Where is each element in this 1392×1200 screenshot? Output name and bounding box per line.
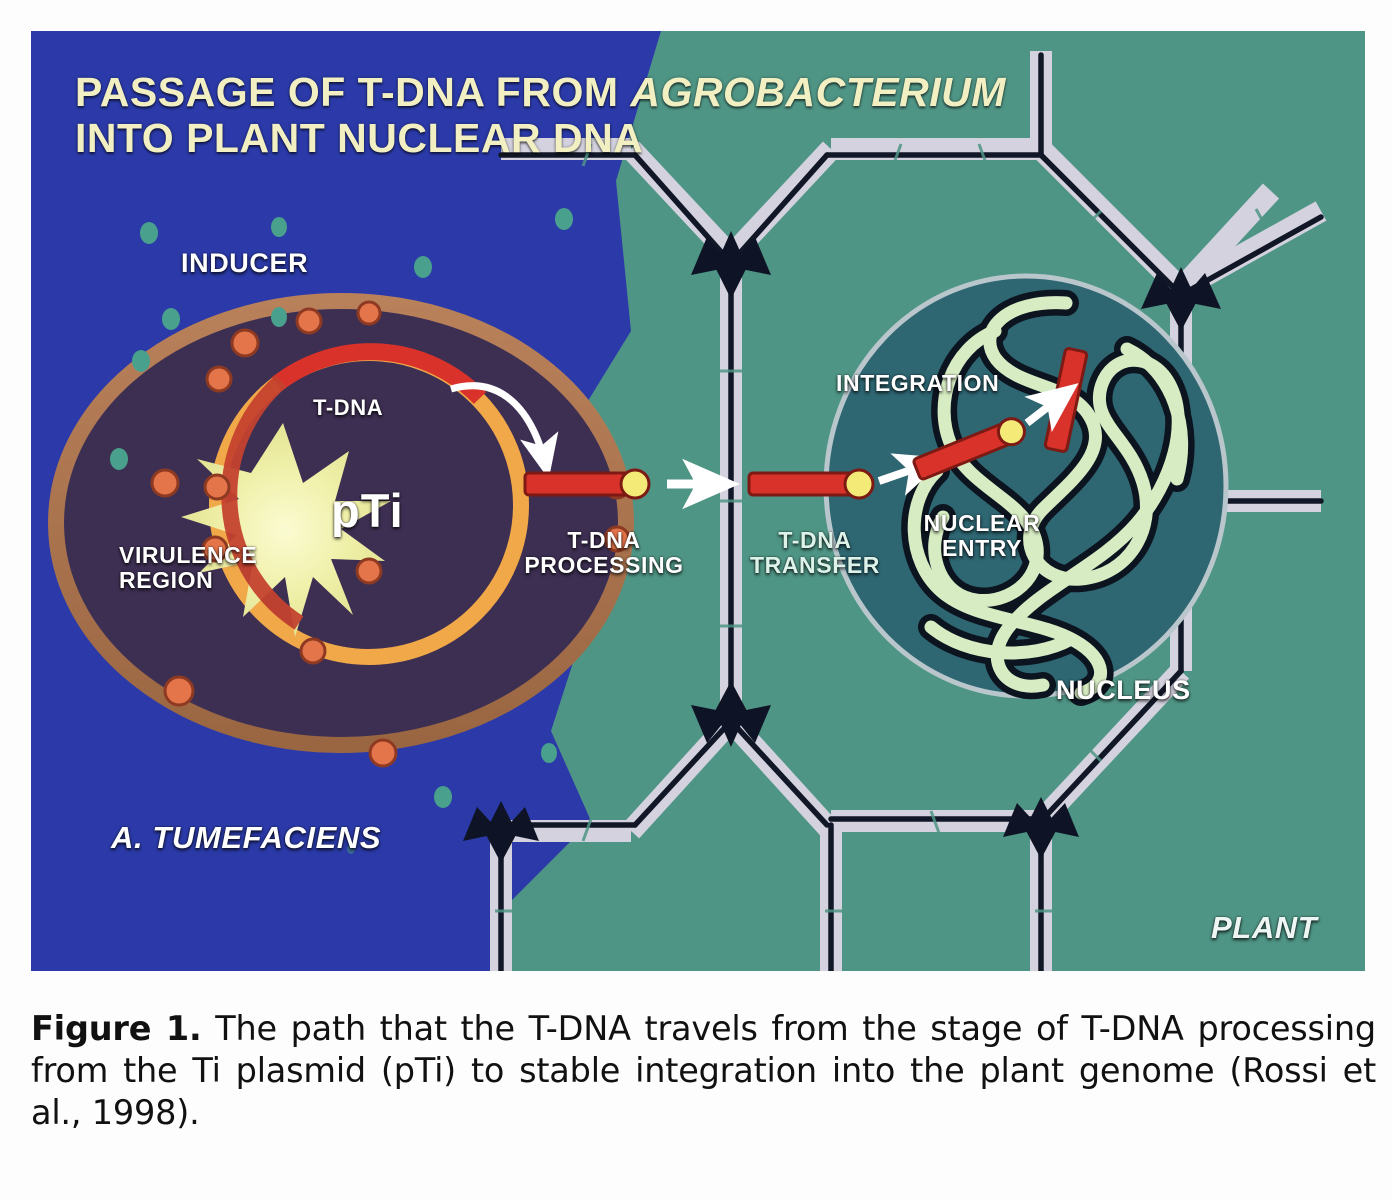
receptor-dot xyxy=(203,537,227,561)
receptor-dot xyxy=(357,559,381,583)
inducer-dot xyxy=(541,743,557,763)
figure-panel: PASSAGE OF T-DNA FROM AGROBACTERIUM INTO… xyxy=(31,31,1365,971)
inducer-dot xyxy=(555,208,573,230)
receptor-dot xyxy=(301,639,325,663)
inducer-dot xyxy=(162,308,180,330)
inducer-dot xyxy=(132,350,150,372)
receptor-dot xyxy=(232,330,258,356)
receptor-dot xyxy=(205,475,229,499)
inducer-dot xyxy=(347,844,355,854)
figure-caption: Figure 1. The path that the T-DNA travel… xyxy=(31,1008,1376,1135)
receptor-dot xyxy=(605,527,629,551)
plant-nucleus xyxy=(826,276,1226,696)
t-dna-transfer-molecule xyxy=(749,470,873,498)
receptor-dot xyxy=(165,677,193,705)
inducer-dot xyxy=(271,217,287,237)
inducer-dot xyxy=(140,222,158,244)
receptor-dot xyxy=(297,309,321,333)
figure-caption-number: Figure 1. xyxy=(31,1009,202,1048)
t-dna-processing-molecule xyxy=(525,470,649,498)
inducer-dot xyxy=(271,307,287,327)
inducer-dot xyxy=(110,448,128,470)
figure-caption-text: The path that the T-DNA travels from the… xyxy=(31,1009,1376,1132)
receptor-dot xyxy=(207,367,231,391)
receptor-dot xyxy=(152,470,178,496)
inducer-dot xyxy=(434,786,452,808)
diagram-canvas xyxy=(31,31,1365,971)
receptor-dot xyxy=(370,740,396,766)
inducer-dot xyxy=(414,256,432,278)
receptor-dot xyxy=(358,302,380,324)
figure-page: PASSAGE OF T-DNA FROM AGROBACTERIUM INTO… xyxy=(0,0,1392,1200)
